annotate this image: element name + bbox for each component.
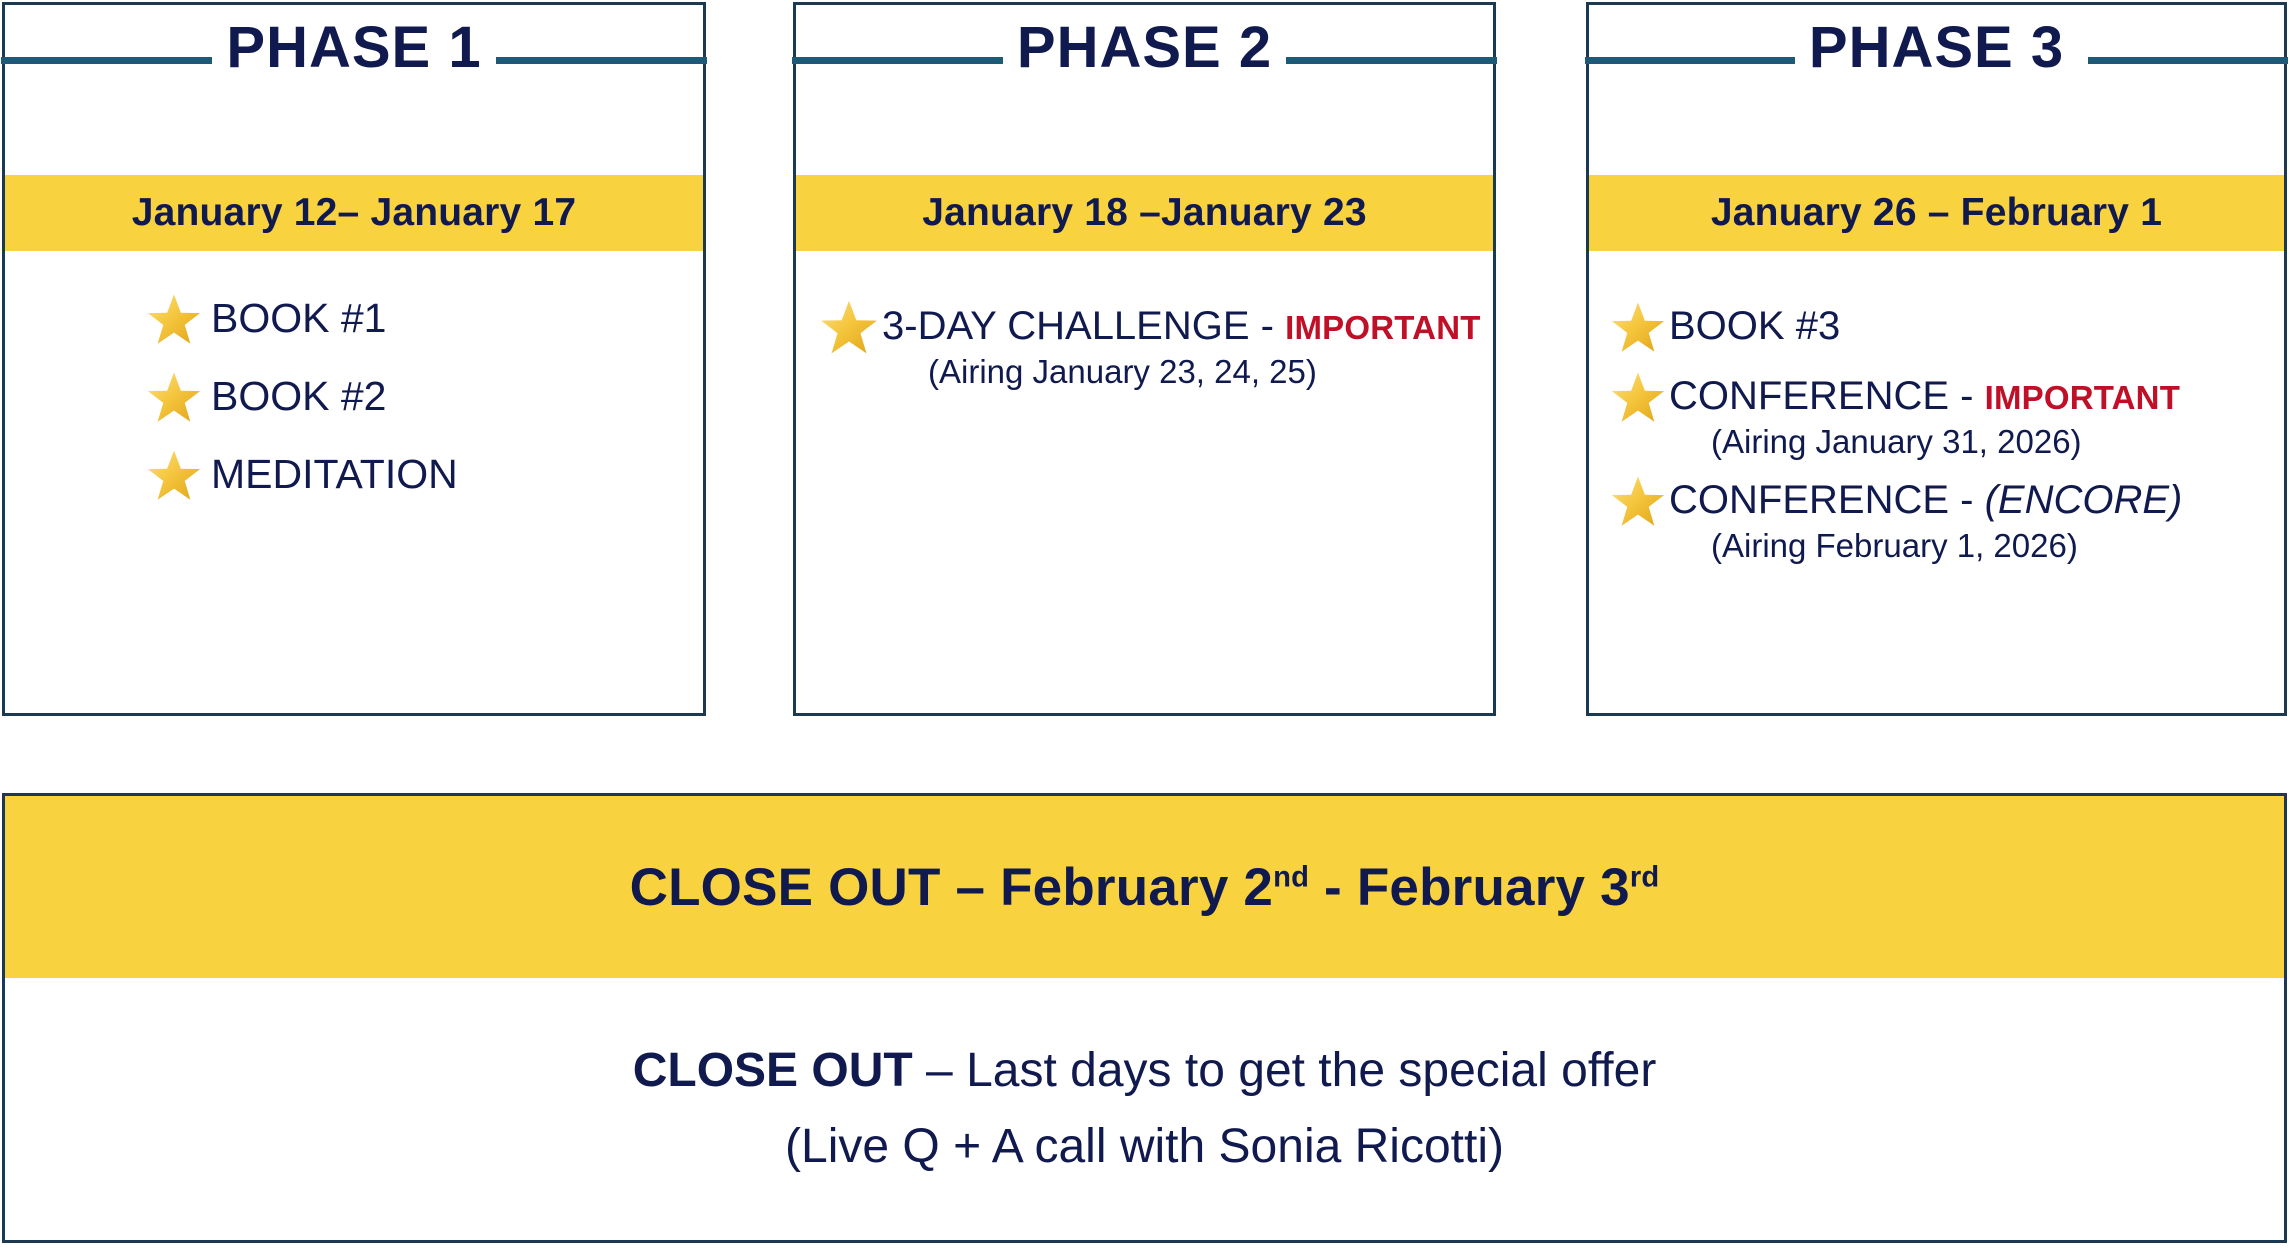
closeout-date-band: CLOSE OUT – February 2nd - February 3rd [5, 796, 2284, 978]
closeout-body: CLOSE OUT – Last days to get the special… [5, 978, 2284, 1240]
star-icon [145, 369, 203, 427]
list-item-label: CONFERENCE - IMPORTANT [1669, 375, 2284, 417]
list-item: BOOK #1 [5, 297, 703, 349]
star-icon [145, 291, 203, 349]
list-item-body: 3-DAY CHALLENGE - IMPORTANT (Airing Janu… [882, 305, 1493, 391]
phase-2-dates: January 18 –January 23 [922, 191, 1367, 235]
list-item-body: CONFERENCE - IMPORTANT (Airing January 3… [1669, 375, 2284, 461]
phase-3-item-list: BOOK #3 CONFERENCE - IMPORTANT (Airing J… [1589, 305, 2284, 583]
list-item: CONFERENCE - IMPORTANT (Airing January 3… [1589, 375, 2284, 461]
star-icon [145, 447, 203, 505]
list-item: MEDITATION [5, 453, 703, 505]
list-item-label: CONFERENCE - (ENCORE) [1669, 479, 2284, 521]
star-icon [1609, 369, 1667, 427]
list-item-label: MEDITATION [211, 453, 703, 496]
list-item-subtext: (Airing February 1, 2026) [1711, 527, 2284, 565]
list-item: 3-DAY CHALLENGE - IMPORTANT (Airing Janu… [796, 305, 1493, 391]
phase-card-1: PHASE 1 January 12– January 17 BOOK #1 B… [2, 2, 706, 716]
closeout-line-1-rest: – Last days to get the special offer [913, 1044, 1657, 1097]
list-item-label: BOOK #2 [211, 375, 703, 418]
closeout-card: CLOSE OUT – February 2nd - February 3rd … [2, 793, 2287, 1243]
closeout-band-sup-2: rd [1630, 861, 1660, 893]
closeout-line-2: (Live Q + A call with Sonia Ricotti) [785, 1122, 1504, 1172]
phase-1-date-band: January 12– January 17 [5, 175, 703, 251]
list-item-text: 3-DAY CHALLENGE - [882, 304, 1285, 348]
phase-card-3: PHASE 3 January 26 – February 1 BOOK #3 … [1586, 2, 2287, 716]
list-item-body: BOOK #1 [211, 297, 703, 340]
closeout-line-1-bold: CLOSE OUT [633, 1044, 913, 1097]
phase-2-title: PHASE 2 [796, 19, 1493, 77]
phase-1-title-text: PHASE 1 [212, 19, 495, 77]
list-item: BOOK #2 [5, 375, 703, 427]
list-item-label: BOOK #1 [211, 297, 703, 340]
phase-3-header: PHASE 3 [1589, 5, 2284, 115]
phase-3-date-band: January 26 – February 1 [1589, 175, 2284, 251]
phase-2-title-text: PHASE 2 [1003, 19, 1286, 77]
list-item-subtext: (Airing January 31, 2026) [1711, 423, 2284, 461]
list-item: CONFERENCE - (ENCORE) (Airing February 1… [1589, 479, 2284, 565]
list-item-body: CONFERENCE - (ENCORE) (Airing February 1… [1669, 479, 2284, 565]
list-item-text: CONFERENCE - [1669, 478, 1985, 522]
closeout-line-1: CLOSE OUT – Last days to get the special… [633, 1046, 1657, 1096]
phase-1-title: PHASE 1 [5, 19, 703, 77]
phase-2-date-band: January 18 –January 23 [796, 175, 1493, 251]
status-badge-important: IMPORTANT [1985, 379, 2181, 416]
star-icon [1609, 299, 1667, 357]
list-item-label: 3-DAY CHALLENGE - IMPORTANT [882, 305, 1493, 347]
closeout-band-sup-1: nd [1273, 861, 1309, 893]
list-item-subtext: (Airing January 23, 24, 25) [928, 353, 1493, 391]
encore-tag: (ENCORE) [1985, 478, 2183, 522]
phase-card-2: PHASE 2 January 18 –January 23 3-DAY CHA… [793, 2, 1496, 716]
closeout-band-prefix: CLOSE OUT – February 2 [630, 858, 1274, 917]
phase-3-title-text: PHASE 3 [1795, 19, 2078, 77]
list-item: BOOK #3 [1589, 305, 2284, 357]
phase-3-title: PHASE 3 [1589, 19, 2284, 77]
closeout-band-text: CLOSE OUT – February 2nd - February 3rd [630, 857, 1660, 918]
list-item-text: CONFERENCE - [1669, 374, 1985, 418]
star-icon [818, 297, 880, 359]
list-item-body: MEDITATION [211, 453, 703, 496]
star-icon [1609, 473, 1667, 531]
phase-1-dates: January 12– January 17 [132, 191, 577, 235]
status-badge-important: IMPORTANT [1285, 309, 1481, 346]
phase-1-header: PHASE 1 [5, 5, 703, 115]
closeout-band-mid: - February 3 [1309, 858, 1630, 917]
list-item-label: BOOK #3 [1669, 305, 2284, 347]
phase-2-item-list: 3-DAY CHALLENGE - IMPORTANT (Airing Janu… [796, 305, 1493, 391]
phase-2-header: PHASE 2 [796, 5, 1493, 115]
list-item-body: BOOK #3 [1669, 305, 2284, 347]
list-item-body: BOOK #2 [211, 375, 703, 418]
phase-1-item-list: BOOK #1 BOOK #2 MEDITATION [5, 297, 703, 531]
phase-3-dates: January 26 – February 1 [1711, 191, 2162, 235]
